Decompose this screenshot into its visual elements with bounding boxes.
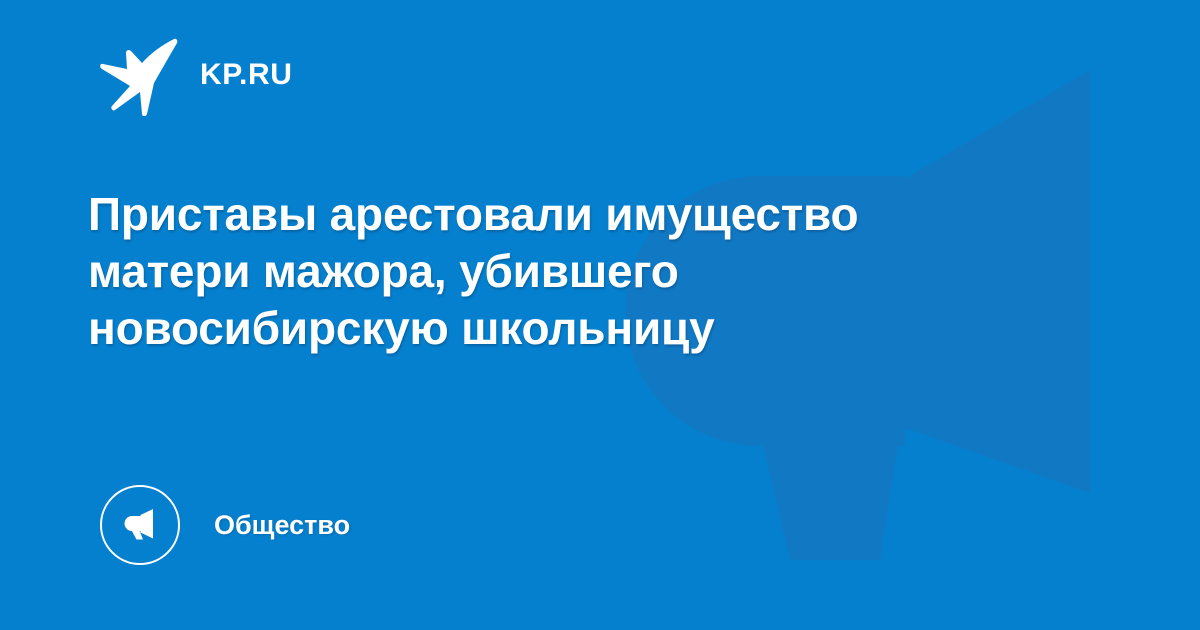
brand-name: KP.RU [200,60,292,92]
category-badge [100,485,180,565]
headline-line-2: матери мажора, убившего [88,243,1068,300]
headline: Приставы арестовали имущество матери маж… [88,186,1068,357]
headline-line-1: Приставы арестовали имущество [88,186,1068,243]
category-label: Общество [214,512,350,539]
swallow-bird-icon [100,36,178,116]
megaphone-icon [118,503,162,547]
category-tag[interactable]: Общество [100,484,350,566]
brand-header: KP.RU [100,34,292,118]
social-share-card: KP.RU Приставы арестовали имущество мате… [0,0,1200,630]
headline-line-3: новосибирскую школьницу [88,300,1068,357]
